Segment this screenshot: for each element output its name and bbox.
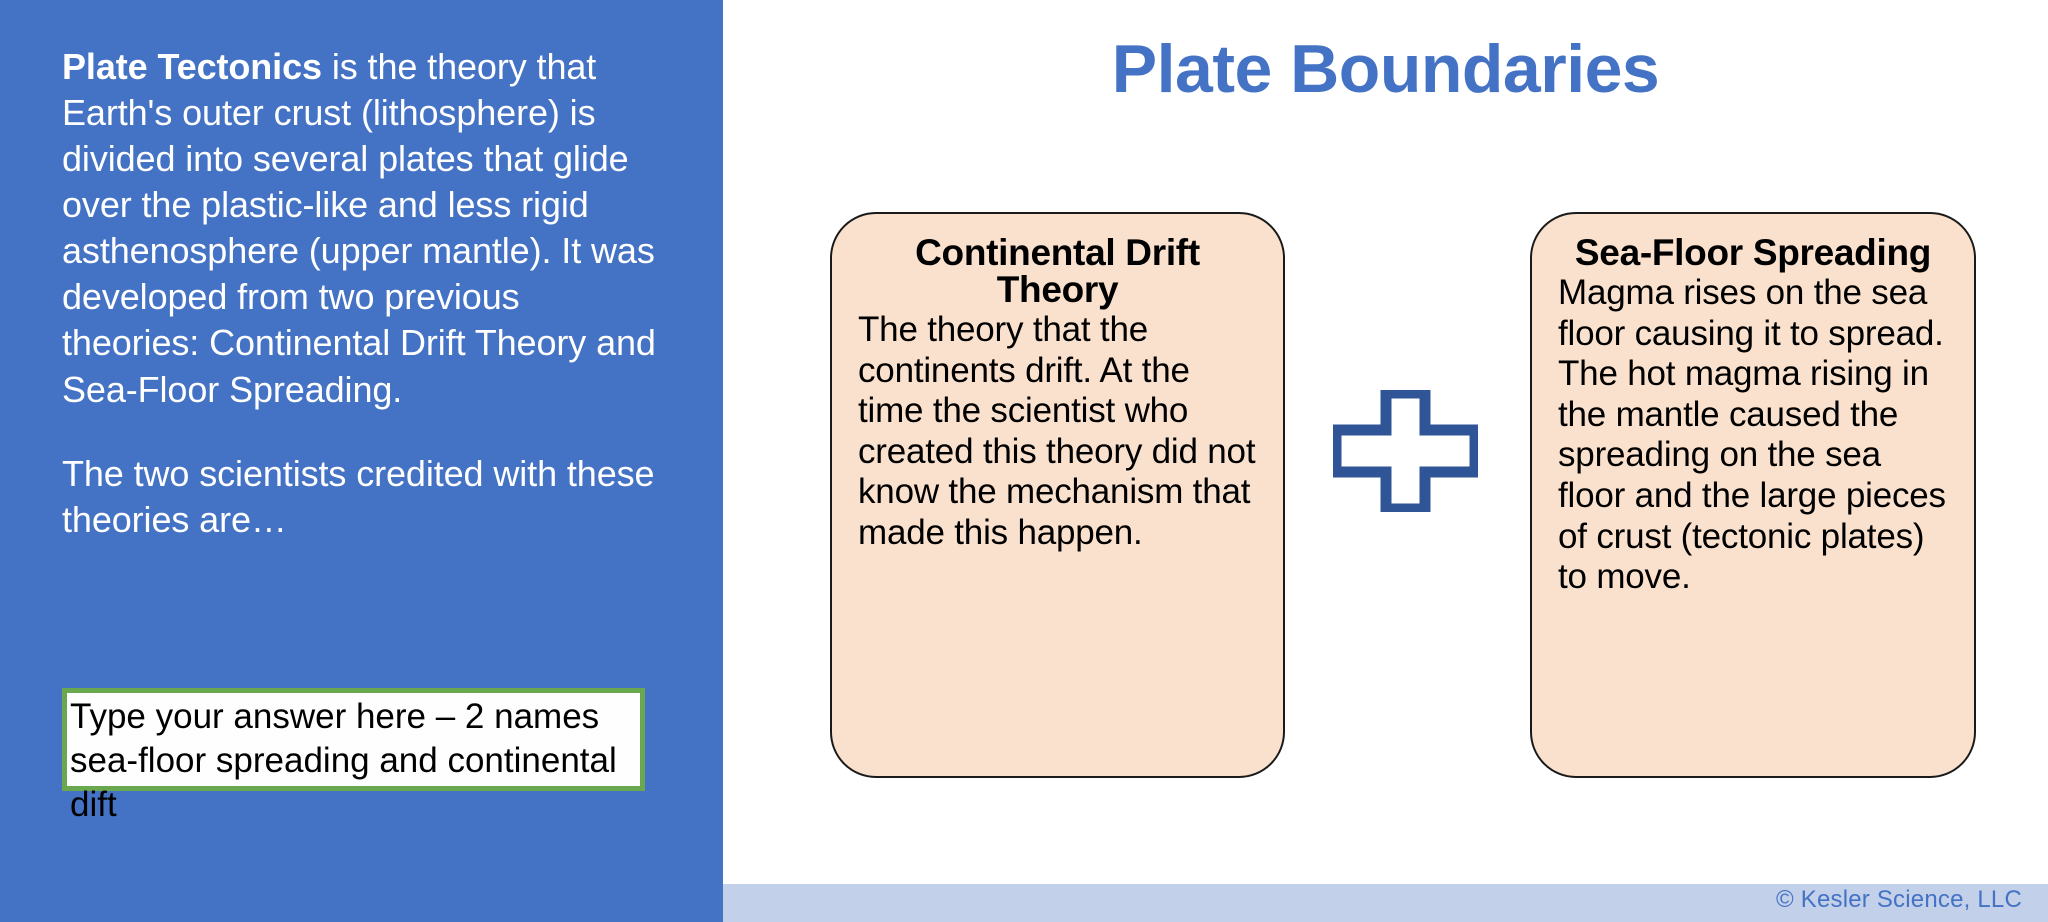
plate-tectonics-lead-bold: Plate Tectonics [62, 46, 322, 87]
theory-card-body: Magma rises on the sea floor causing it … [1558, 273, 1948, 598]
theory-card-title: Sea-Floor Spreading [1558, 234, 1948, 271]
plus-icon [1333, 390, 1478, 512]
page-title: Plate Boundaries [723, 30, 2048, 108]
theory-card-title: Continental Drift Theory [858, 234, 1257, 308]
theory-card-sea-floor-spreading: Sea-Floor Spreading Magma rises on the s… [1530, 212, 1976, 778]
slide-canvas: Plate Tectonics is the theory that Earth… [0, 0, 2048, 922]
left-info-panel: Plate Tectonics is the theory that Earth… [0, 0, 723, 922]
answer-input-text[interactable]: Type your answer here – 2 names sea-floo… [70, 695, 670, 827]
plate-tectonics-paragraph: Plate Tectonics is the theory that Earth… [62, 44, 662, 413]
scientists-prompt-paragraph: The two scientists credited with these t… [62, 451, 662, 543]
left-panel-text-block: Plate Tectonics is the theory that Earth… [62, 44, 662, 543]
copyright-credit: © Kesler Science, LLC [1776, 886, 2022, 914]
plate-tectonics-paragraph-rest: is the theory that Earth's outer crust (… [62, 46, 656, 410]
theory-card-continental-drift: Continental Drift Theory The theory that… [830, 212, 1285, 778]
theory-card-body: The theory that the continents drift. At… [858, 310, 1257, 554]
